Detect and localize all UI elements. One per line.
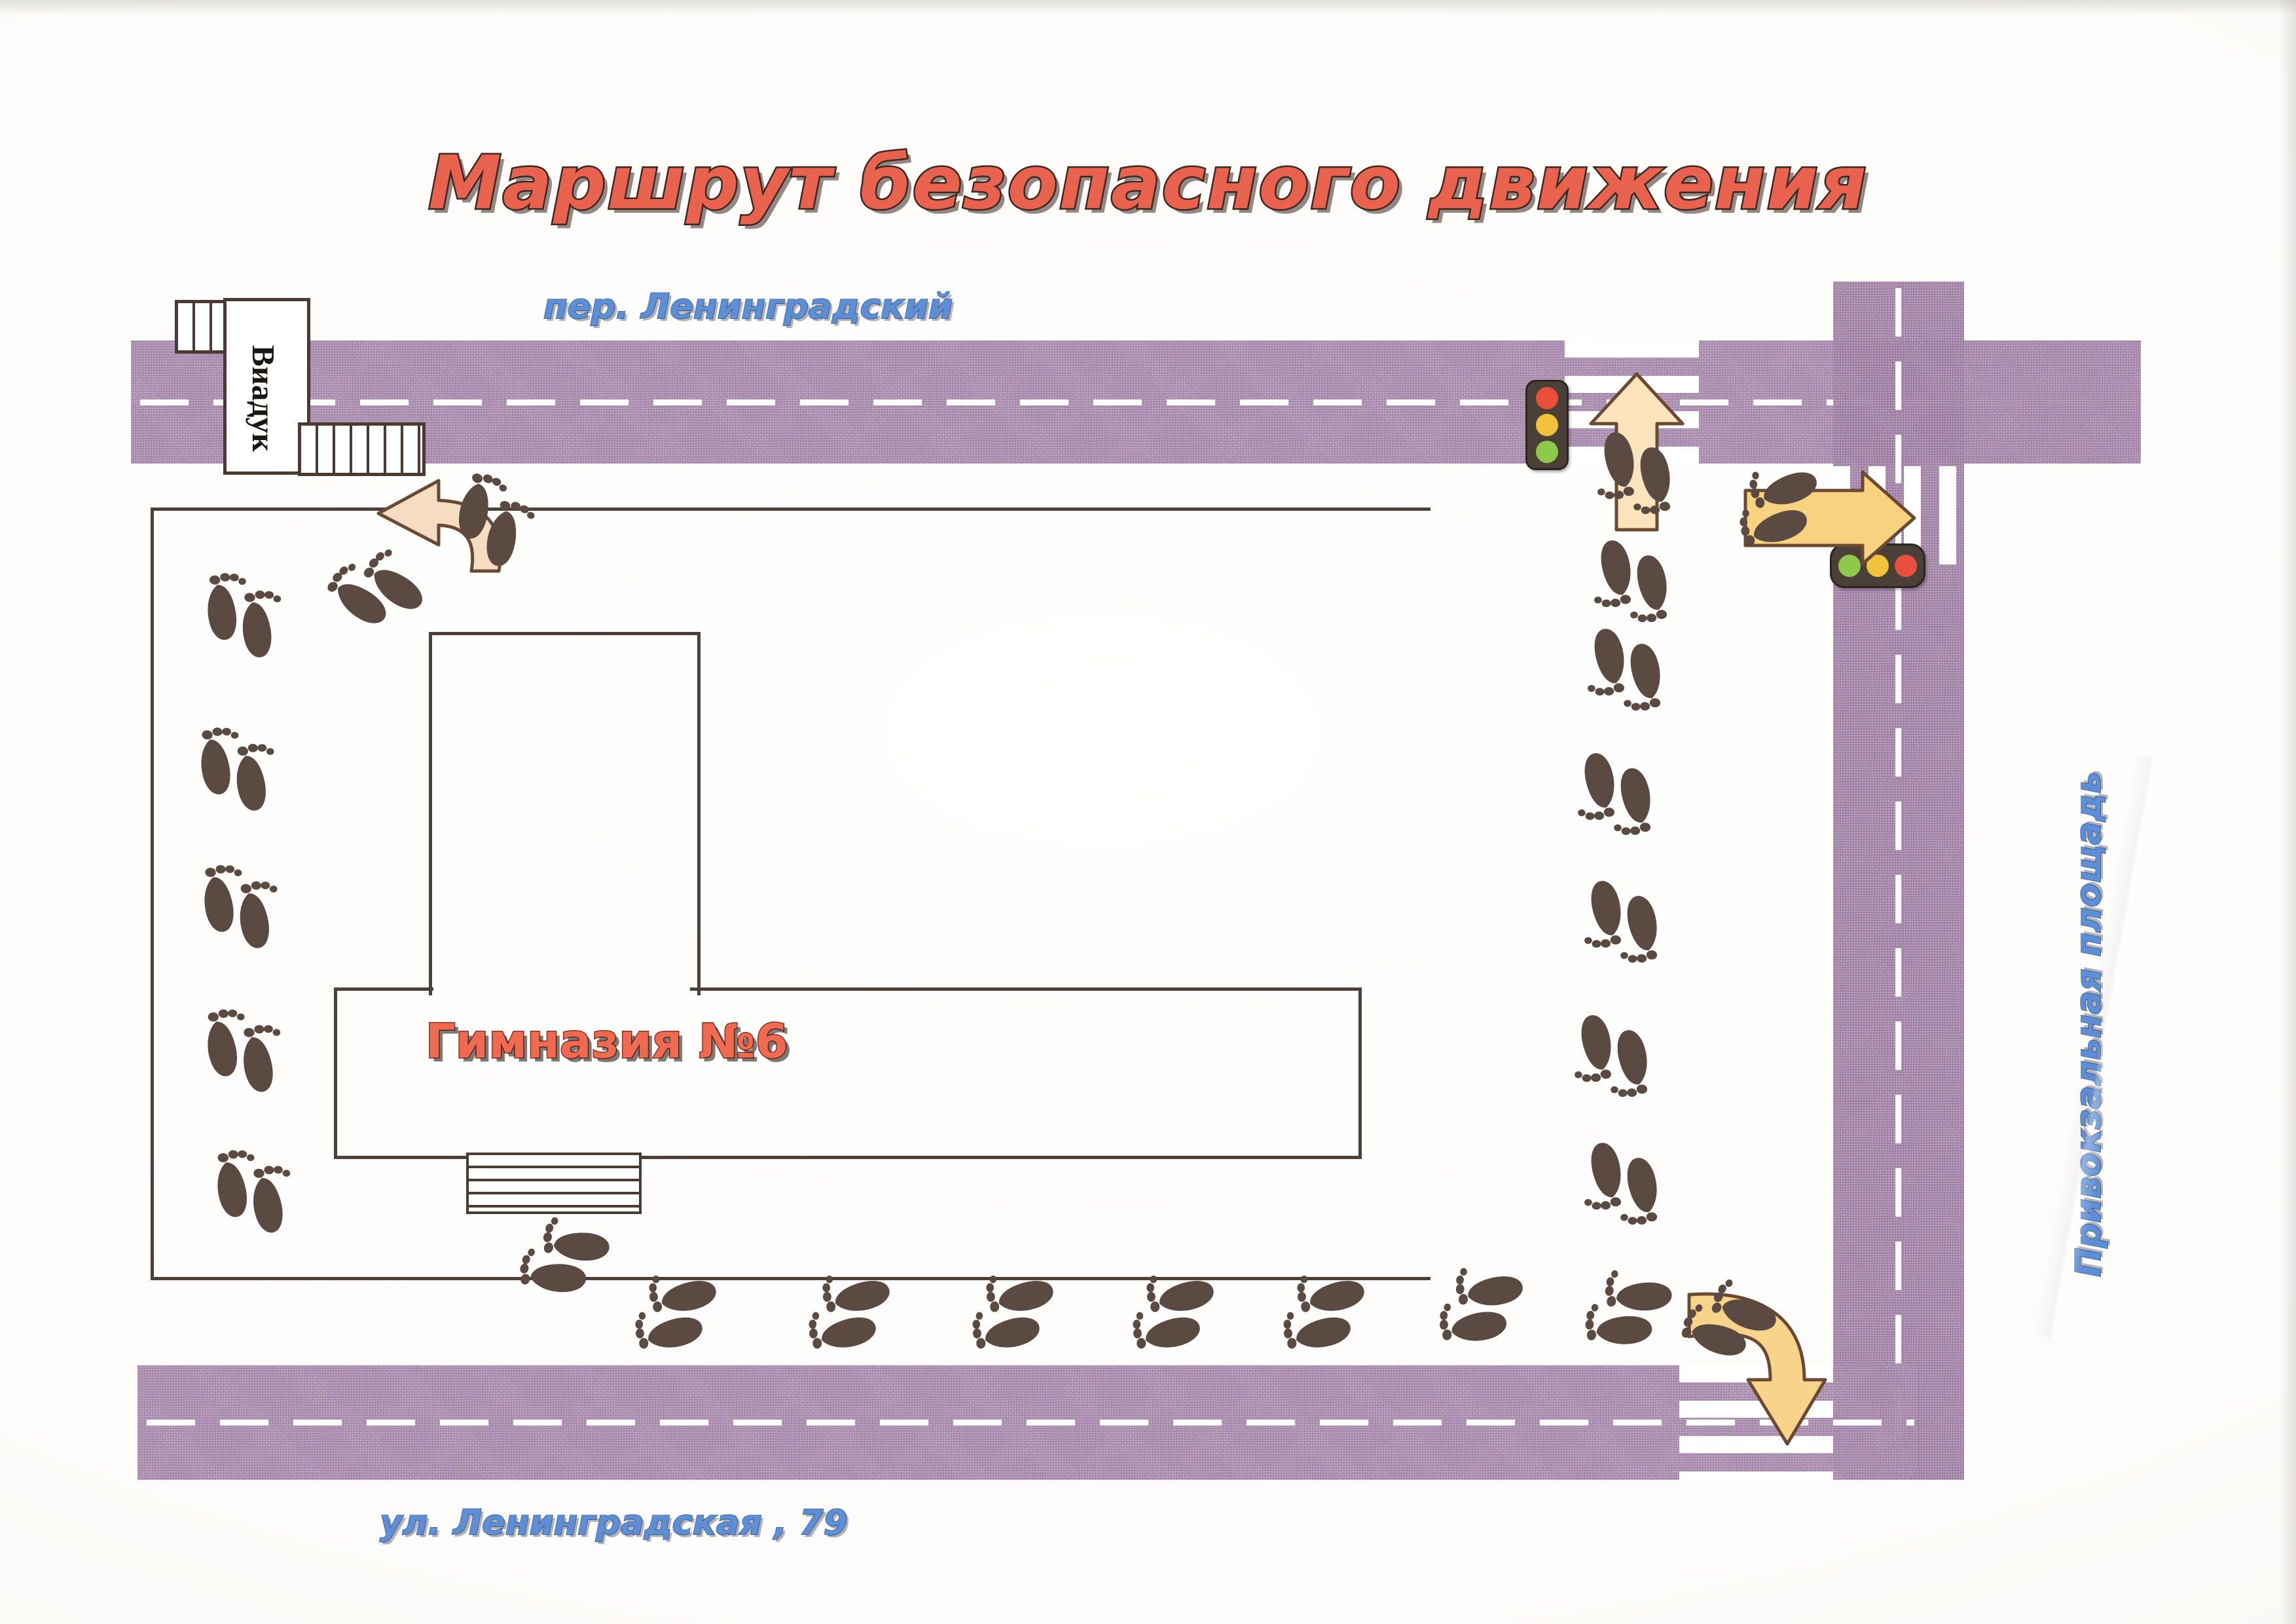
footprint-pair <box>1579 876 1666 978</box>
traffic-lamp-red <box>1536 387 1558 409</box>
footprint-pair <box>1569 1010 1656 1113</box>
footprint-pair <box>207 1134 296 1238</box>
footprint-pair <box>621 1272 720 1356</box>
footprint-pair <box>1592 428 1679 530</box>
road-right-stub <box>1964 341 2141 464</box>
road-centerline-right <box>1895 288 1901 1441</box>
footprint-pair <box>197 993 286 1097</box>
footprint-pair <box>1567 1261 1679 1360</box>
traffic-lamp-yellow <box>1536 414 1558 436</box>
footprint-pair <box>1582 624 1669 726</box>
footprint-pair <box>1269 1272 1368 1356</box>
street-label-top: пер. Ленинградский <box>543 287 953 327</box>
school-building-north-wing <box>429 632 701 995</box>
footprint-pair <box>193 849 283 954</box>
page-title: Маршрут безопасного движения <box>0 141 2296 226</box>
footprint-pair <box>1720 461 1828 555</box>
poster-sheet: Виадук Маршрут безопасного движения пер.… <box>0 0 2296 1624</box>
road-centerline-bottom <box>147 1420 1914 1426</box>
school-name-label: Гимназия №6 <box>426 1014 788 1069</box>
scan-edge-shadow <box>0 0 2296 14</box>
scan-edge-shadow-right <box>2279 0 2296 1624</box>
footprint-pair <box>190 711 280 817</box>
traffic-lamp-green <box>1536 441 1558 463</box>
school-entrance-stairs <box>466 1153 642 1214</box>
street-label-right: Привокзальная площадь <box>2069 771 2109 1277</box>
footprint-pair <box>958 1272 1057 1356</box>
school-building-join-mask <box>433 984 690 993</box>
footprint-pair <box>1118 1272 1218 1356</box>
school-yard-outline <box>151 507 1430 1280</box>
footprint-pair <box>1573 748 1660 851</box>
footprint-pair <box>1589 536 1676 638</box>
footprint-pair <box>194 556 288 664</box>
traffic-light-vertical[interactable] <box>1525 380 1569 470</box>
school-yard-top-edge-right <box>524 507 1430 511</box>
street-label-bottom: ул. Ленинградская , 79 <box>380 1503 847 1543</box>
footprint-pair <box>1579 1138 1666 1240</box>
viaduct-label: Виадук <box>245 345 282 426</box>
footprint-pair <box>1423 1262 1529 1352</box>
footprint-pair <box>794 1272 894 1356</box>
